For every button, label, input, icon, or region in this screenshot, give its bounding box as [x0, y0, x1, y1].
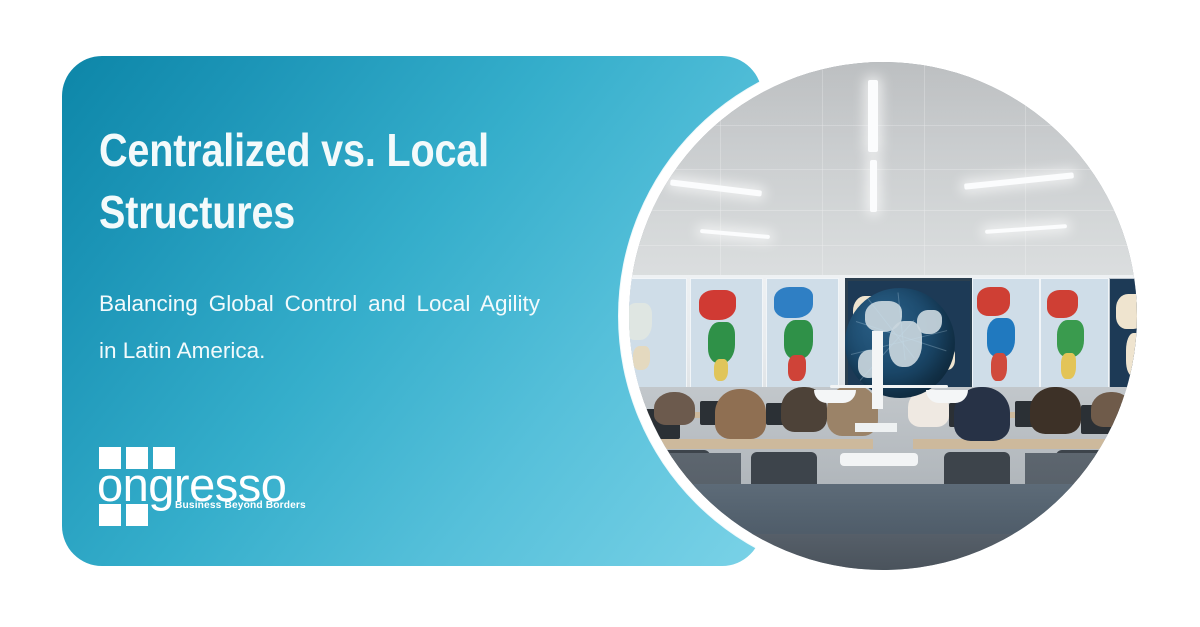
person [1030, 387, 1081, 434]
world-map-panel [766, 278, 839, 389]
network-mesh [845, 288, 955, 398]
subtitle-text: Balancing Global Control and Local Agili… [99, 291, 540, 363]
balance-collar [855, 423, 897, 432]
person [1091, 392, 1132, 428]
desk [913, 439, 1137, 449]
brand-logo[interactable]: ongresso Business Beyond Borders [99, 447, 309, 532]
balance-pan-left [814, 390, 856, 403]
world-map-panel [1109, 278, 1137, 389]
social-banner: Centralized vs. Local Structures Balanci… [0, 0, 1200, 627]
world-map-panel [972, 278, 1040, 389]
ceiling [629, 62, 1137, 286]
page-subtitle: Balancing Global Control and Local Agili… [99, 280, 540, 374]
carpet-floor [629, 534, 1137, 570]
ceiling-light-icon [870, 160, 877, 212]
photo-scene [629, 62, 1137, 570]
person [715, 389, 766, 438]
world-map-panel [1040, 278, 1108, 389]
office-photo [629, 62, 1137, 570]
world-map-panel [629, 278, 687, 389]
desk [629, 439, 873, 449]
reception-counter [629, 484, 1137, 540]
world-map-panel [690, 278, 763, 389]
network-globe-icon [845, 288, 955, 398]
ceiling-light-icon [868, 80, 878, 152]
page-title: Centralized vs. Local Structures [99, 120, 503, 243]
person [654, 392, 695, 426]
balance-stem [872, 331, 883, 409]
balance-base [840, 453, 918, 466]
balance-beam [830, 385, 948, 388]
logo-tagline: Business Beyond Borders [175, 500, 306, 512]
balance-pan-right [926, 390, 968, 403]
